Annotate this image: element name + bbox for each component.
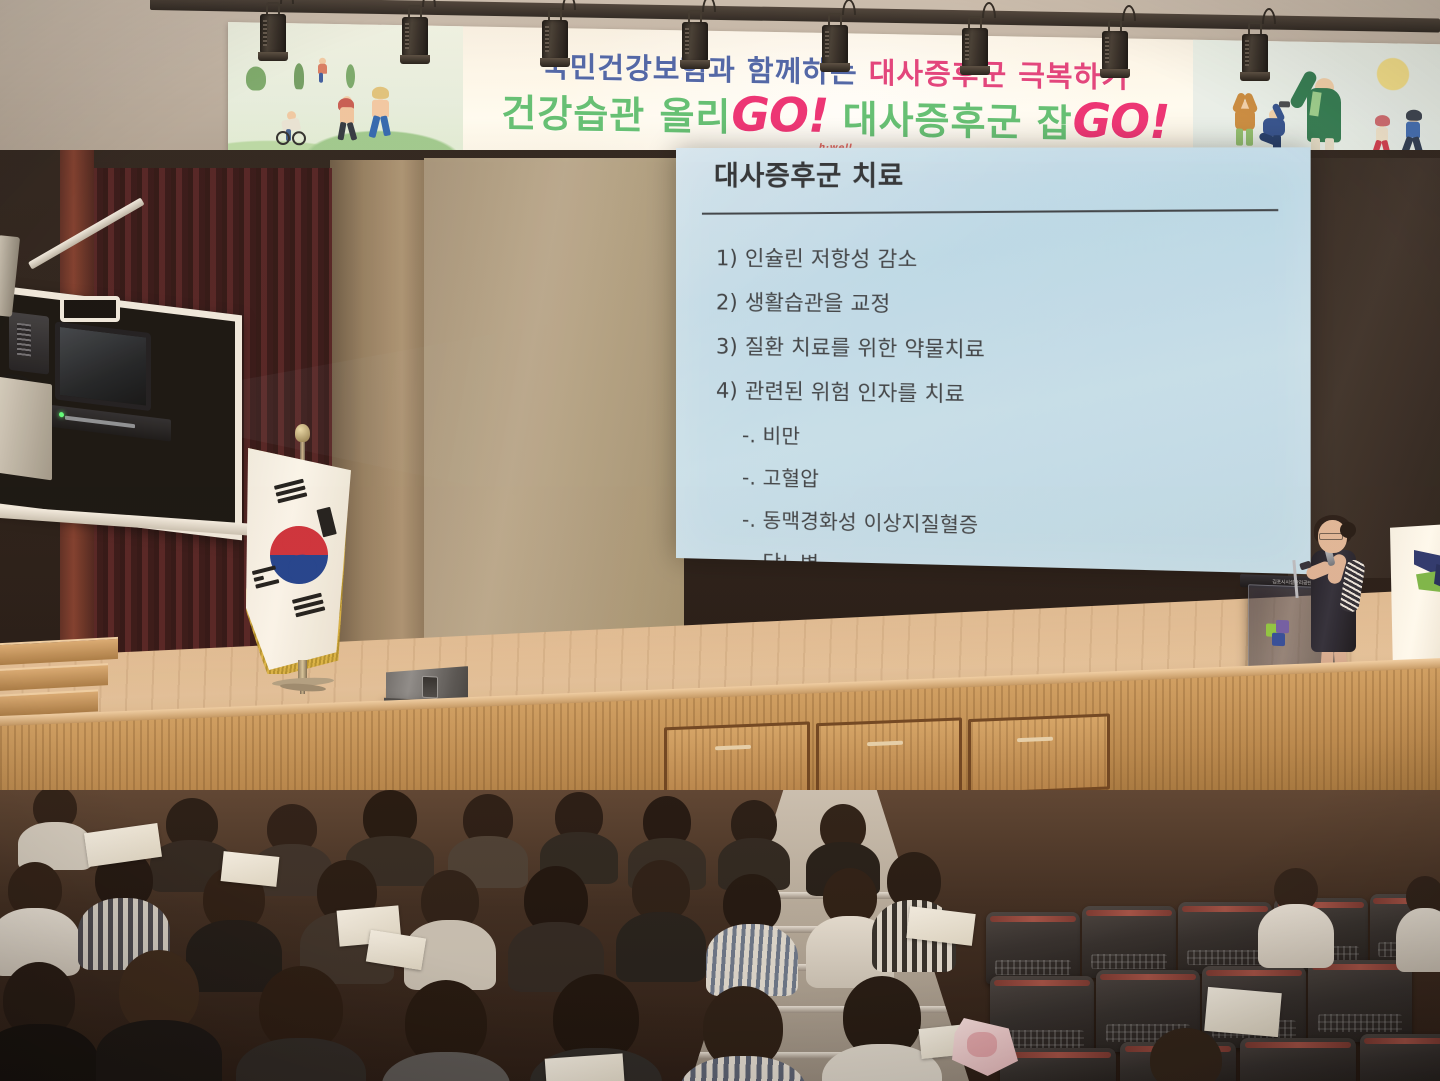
attendee bbox=[706, 874, 798, 992]
handout-paper bbox=[545, 1053, 626, 1081]
attendee bbox=[236, 966, 366, 1081]
attendee bbox=[1128, 1028, 1244, 1081]
auditorium-scene: 국민건강보험과 함께하는 대사증후군 극복하기 건강습관 올리GO! 대사증후군… bbox=[0, 0, 1440, 1081]
attendee bbox=[96, 950, 222, 1081]
glasses-icon bbox=[1319, 533, 1343, 540]
slide-list-item: 1) 인슐린 저항성 감소 bbox=[716, 248, 1276, 273]
banner-subtitle-b: 대사증후군 잡 bbox=[828, 97, 1072, 145]
banner-subtitle-a: 건강습관 올리 bbox=[501, 91, 731, 139]
av-vent-panel bbox=[9, 312, 49, 375]
attendee bbox=[382, 980, 510, 1081]
attendee bbox=[1258, 868, 1334, 968]
stage-wall-panel bbox=[424, 158, 684, 698]
attendee bbox=[508, 866, 604, 986]
attendee bbox=[0, 962, 98, 1081]
trigram-geon bbox=[274, 479, 308, 507]
presenter-hair-bun bbox=[1340, 522, 1356, 538]
seat[interactable] bbox=[986, 912, 1080, 984]
stage-wall-right bbox=[1288, 158, 1440, 578]
slide-body: 1) 인슐린 저항성 감소 2) 생활습관을 교정 3) 질환 치료를 위한 약… bbox=[716, 248, 1276, 574]
slide-title: 대사증후군 치료 bbox=[714, 154, 904, 194]
slide-sub-item: -. 비만 bbox=[742, 425, 1276, 455]
attendee bbox=[1396, 876, 1440, 972]
projection-screen: 대사증후군 치료 1) 인슐린 저항성 감소 2) 생활습관을 교정 3) 질환… bbox=[676, 147, 1311, 574]
av-side-box bbox=[0, 376, 52, 481]
seat[interactable] bbox=[1000, 1048, 1116, 1081]
handout-paper bbox=[221, 851, 280, 887]
slide-list-item: 3) 질환 치료를 위한 약물치료 bbox=[716, 336, 1276, 364]
flag-finial bbox=[295, 424, 310, 442]
organization-emblem-icon bbox=[1266, 619, 1296, 650]
av-mount-bracket bbox=[60, 296, 120, 322]
slide-sub-item: -. 동맥경화성 이상지질혈증 bbox=[742, 509, 1276, 542]
banner-go-1: GO! bbox=[731, 87, 828, 144]
seat[interactable] bbox=[1360, 1034, 1440, 1081]
apron-access-door[interactable] bbox=[968, 713, 1110, 795]
banner-go-2: GO! bbox=[1073, 93, 1170, 150]
slide-sub-item: -. 고혈압 bbox=[742, 467, 1276, 498]
attendee bbox=[0, 862, 80, 972]
attendee bbox=[616, 860, 706, 978]
seat[interactable] bbox=[1240, 1038, 1356, 1081]
attendee bbox=[78, 850, 170, 966]
korean-flag-icon bbox=[246, 448, 351, 670]
attendee bbox=[680, 986, 806, 1081]
seat[interactable] bbox=[1082, 906, 1176, 978]
institution-logo-icon bbox=[1414, 550, 1440, 606]
handout-paper bbox=[1204, 987, 1282, 1037]
flag-stand bbox=[272, 660, 334, 696]
slide-title-divider bbox=[702, 209, 1278, 215]
trigram-gon bbox=[292, 593, 326, 621]
slide-list-item: 4) 관련된 위험 인자를 치료 bbox=[716, 381, 1276, 411]
seat[interactable] bbox=[1308, 960, 1412, 1042]
trigram-gam bbox=[252, 565, 280, 591]
slide-list-item: 2) 생활습관을 교정 bbox=[716, 292, 1276, 318]
audience-area bbox=[0, 790, 1440, 1081]
apron-access-door[interactable] bbox=[816, 717, 962, 799]
stage-side-wall bbox=[330, 160, 426, 690]
